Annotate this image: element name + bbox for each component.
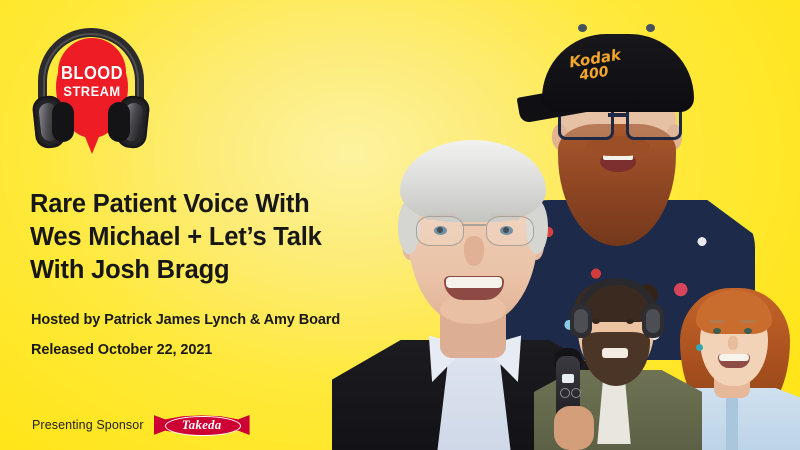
kodak-guest-eyeglasses bbox=[552, 104, 682, 134]
kodak-guest-right-ear bbox=[666, 124, 682, 150]
main-guest-collar-right bbox=[483, 335, 534, 388]
woman-host-right-eye bbox=[744, 328, 752, 334]
logo-wordmark-line-2: STREAM bbox=[59, 84, 125, 98]
main-guest-left-eyebrow bbox=[426, 213, 456, 221]
main-guest-left-ear bbox=[402, 230, 418, 260]
headphone-host-jacket bbox=[534, 370, 702, 450]
headphones-left-earpad bbox=[52, 102, 74, 142]
headphone-host-beard bbox=[582, 332, 650, 386]
headphones-left-cup bbox=[570, 304, 592, 338]
takeda-logo-wordmark: Takeda bbox=[165, 416, 239, 434]
presenting-sponsor-label: Presenting Sponsor bbox=[32, 418, 144, 432]
woman-host-denim-shirt bbox=[644, 388, 800, 450]
main-guest-right-eyebrow bbox=[490, 213, 520, 221]
kodak-guest-face bbox=[558, 60, 676, 200]
episode-title: Rare Patient Voice With Wes Michael + Le… bbox=[30, 188, 390, 287]
episode-title-line-3: With Josh Bragg bbox=[30, 254, 390, 287]
main-guest-face bbox=[408, 156, 538, 324]
podcast-episode-card: BLOOD STREAM Kodak bbox=[0, 0, 800, 450]
eyeglasses-left-lens bbox=[416, 216, 464, 246]
headphones-right-cup bbox=[642, 304, 664, 338]
logo-wordmark-line-1: BLOOD bbox=[59, 64, 125, 82]
woman-host-shirt-placket bbox=[726, 390, 738, 450]
microphone-capsule bbox=[554, 348, 582, 370]
headphone-host-left-eye bbox=[592, 318, 600, 324]
headphone-host-headphones-icon bbox=[572, 278, 662, 350]
eyeglasses-right-lens bbox=[486, 216, 534, 246]
kodak-cap-text-line-2: 400 bbox=[578, 55, 667, 84]
headphone-host-hair bbox=[574, 280, 656, 322]
eyeglasses-bridge bbox=[608, 113, 626, 117]
kodak-cap-brim bbox=[517, 78, 632, 123]
woman-host-face bbox=[700, 298, 768, 386]
main-guest-nose bbox=[464, 236, 484, 266]
main-guest-left-eye bbox=[434, 226, 447, 235]
headphone-host-tshirt bbox=[592, 374, 636, 444]
kodak-guest-mustache bbox=[586, 136, 650, 156]
episode-title-line-2: Wes Michael + Let’s Talk bbox=[30, 221, 390, 254]
kodak-guest-mouth bbox=[600, 152, 636, 172]
headphone-host-face bbox=[578, 286, 654, 378]
takeda-logo[interactable]: Takeda bbox=[154, 412, 250, 438]
woman-host-teeth bbox=[719, 354, 749, 361]
headphone-host-neck bbox=[596, 348, 634, 382]
main-guest-hair-right-side bbox=[526, 200, 548, 254]
woman-host-hair bbox=[680, 288, 790, 420]
photo-kodak-cap-guest: Kodak 400 bbox=[500, 12, 740, 342]
woman-host-left-eye bbox=[713, 328, 721, 334]
headphone-host-right-eye bbox=[626, 318, 634, 324]
main-guest-smile bbox=[444, 276, 504, 300]
headphones-band bbox=[576, 278, 658, 318]
headphone-host-smile bbox=[602, 348, 628, 358]
microphone-display-screen bbox=[562, 374, 574, 383]
woman-host-hair-top bbox=[696, 290, 772, 334]
eyeglasses-left-lens bbox=[558, 104, 614, 140]
kodak-cap-crown bbox=[542, 34, 694, 112]
woman-host-nose bbox=[728, 336, 738, 350]
episode-title-line-1: Rare Patient Voice With bbox=[30, 188, 390, 221]
woman-host-earring bbox=[696, 344, 703, 351]
microphone-knob-right bbox=[571, 388, 581, 398]
main-guest-neck bbox=[440, 300, 506, 358]
main-guest-teeth bbox=[446, 277, 502, 288]
kodak-cap-embroidery-text: Kodak 400 bbox=[568, 41, 668, 86]
main-guest-dress-shirt bbox=[420, 342, 528, 450]
woman-host-smile bbox=[718, 354, 750, 368]
kodak-guest-left-ear bbox=[552, 124, 568, 150]
episode-hosts: Hosted by Patrick James Lynch & Amy Boar… bbox=[31, 312, 340, 328]
photo-headphone-host bbox=[540, 278, 690, 450]
woman-host-left-eyebrow bbox=[709, 320, 725, 323]
headphone-host-hand bbox=[554, 406, 594, 450]
kodak-guest-beard bbox=[558, 124, 676, 246]
microphone-knob-left bbox=[560, 388, 570, 398]
logo-wordmark: BLOOD STREAM bbox=[56, 64, 128, 98]
handheld-microphone-icon bbox=[556, 356, 580, 428]
main-guest-collar-left bbox=[417, 335, 468, 388]
kodak-guest-neck bbox=[584, 162, 646, 222]
eyeglasses-bridge bbox=[462, 224, 486, 226]
bloodstream-podcast-logo[interactable]: BLOOD STREAM bbox=[30, 24, 152, 152]
main-guest-right-ear bbox=[528, 230, 544, 260]
eyeglasses-right-lens bbox=[626, 104, 682, 140]
main-guest-eyeglasses bbox=[414, 216, 534, 246]
presenting-sponsor: Presenting Sponsor Takeda bbox=[32, 412, 250, 438]
headphones-right-earpad bbox=[108, 102, 130, 142]
photo-woman-host bbox=[668, 282, 800, 450]
kodak-guest-right-eye bbox=[646, 24, 655, 32]
kodak-guest-left-eye bbox=[578, 24, 587, 32]
woman-host-neck bbox=[714, 364, 750, 398]
kodak-guest-floral-shirt bbox=[490, 200, 755, 360]
kodak-cap-text-line-1: Kodak bbox=[568, 46, 622, 72]
main-guest-hair-left-side bbox=[398, 200, 420, 254]
kodak-guest-teeth bbox=[603, 152, 633, 160]
main-guest-suit-jacket bbox=[332, 340, 618, 450]
main-guest-chin bbox=[440, 294, 506, 324]
main-guest-hair bbox=[400, 140, 546, 222]
main-guest-right-eye bbox=[500, 226, 513, 235]
woman-host-right-eyebrow bbox=[740, 320, 756, 323]
headphone-host-hair-bun bbox=[636, 284, 658, 306]
episode-release-date: Released October 22, 2021 bbox=[31, 342, 212, 358]
